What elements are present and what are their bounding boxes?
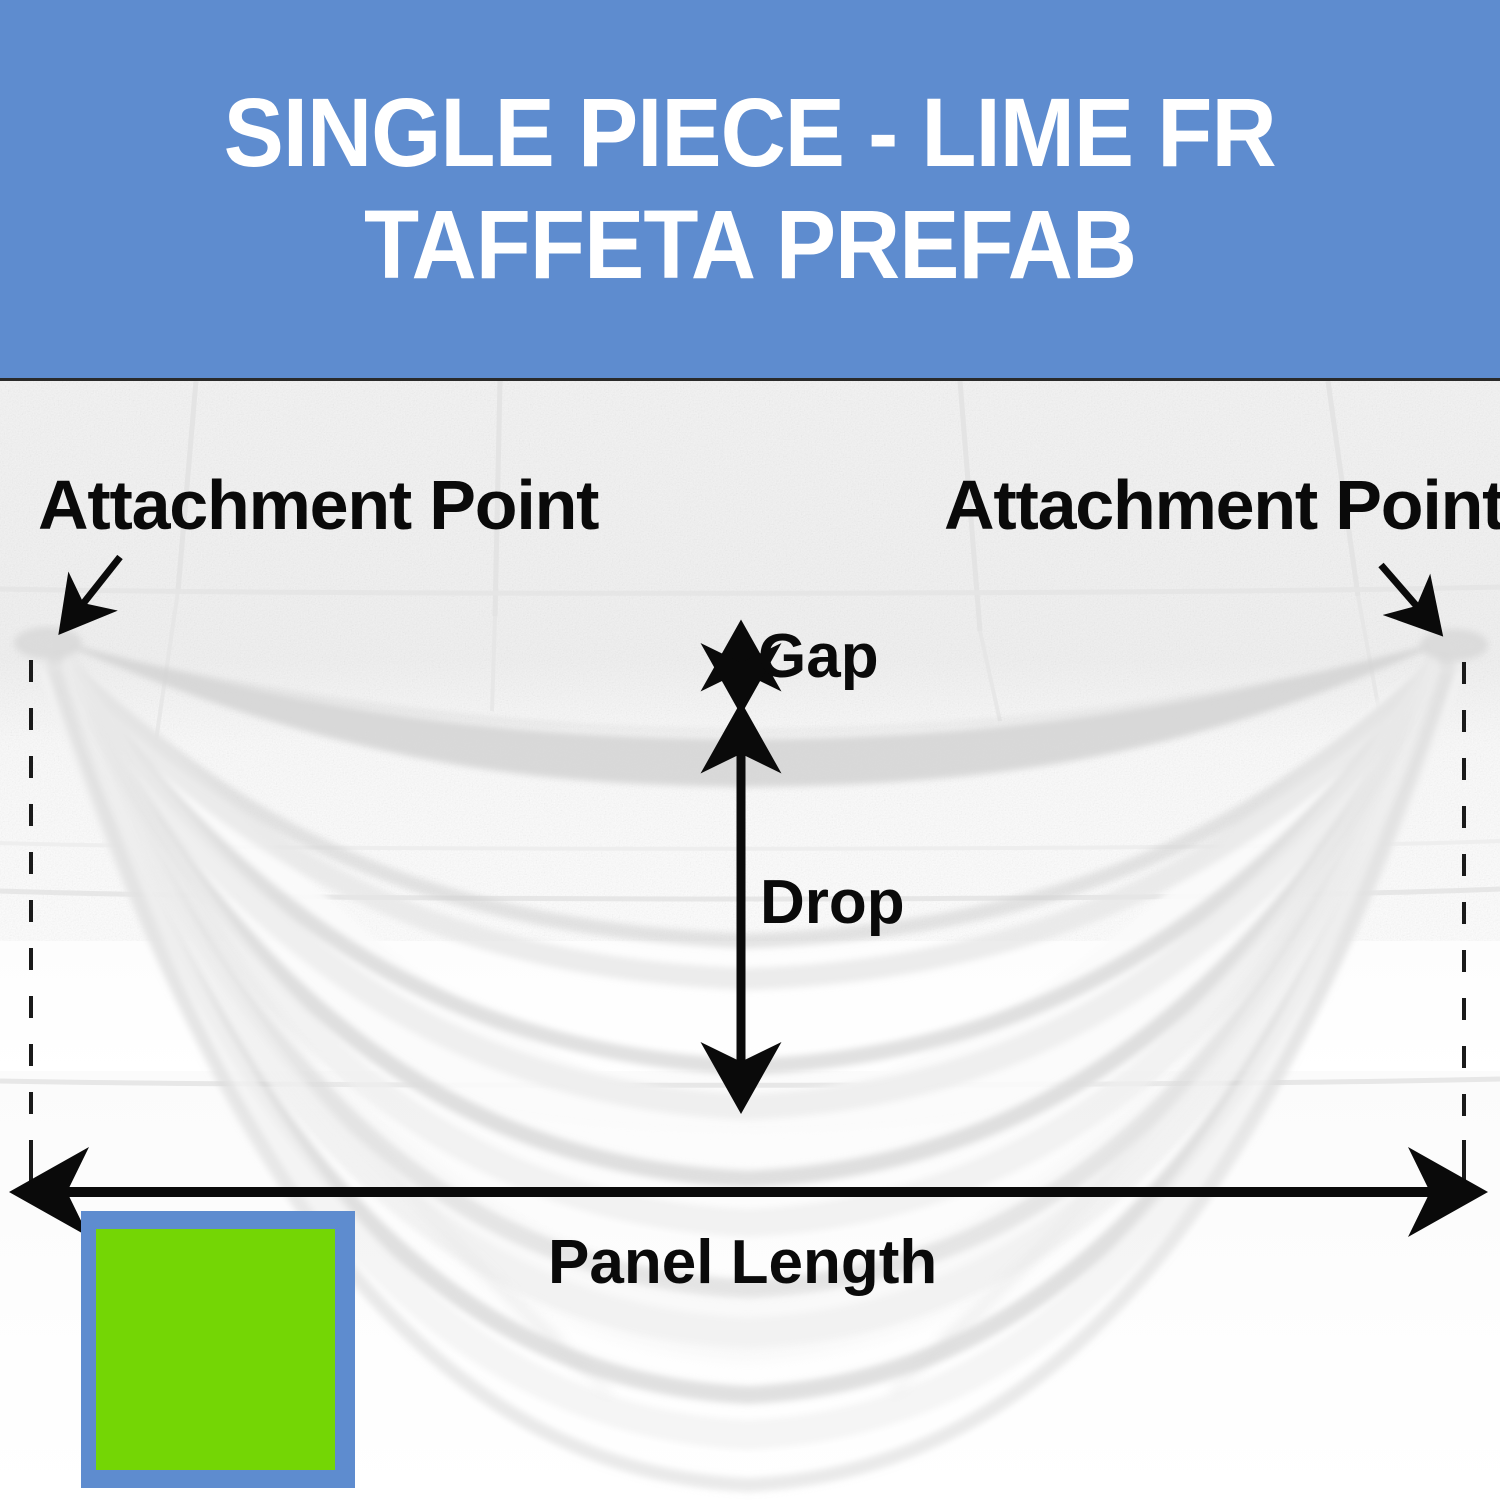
- color-swatch: [81, 1211, 355, 1488]
- header-banner: SINGLE PIECE - LIME FR TAFFETA PREFAB: [0, 0, 1500, 381]
- header-title-line-1: SINGLE PIECE - LIME FR: [224, 77, 1276, 189]
- color-swatch-fill: [96, 1229, 335, 1470]
- product-diagram-page: SINGLE PIECE - LIME FR TAFFETA PREFAB: [0, 0, 1500, 1500]
- header-title-line-2: TAFFETA PREFAB: [364, 189, 1136, 301]
